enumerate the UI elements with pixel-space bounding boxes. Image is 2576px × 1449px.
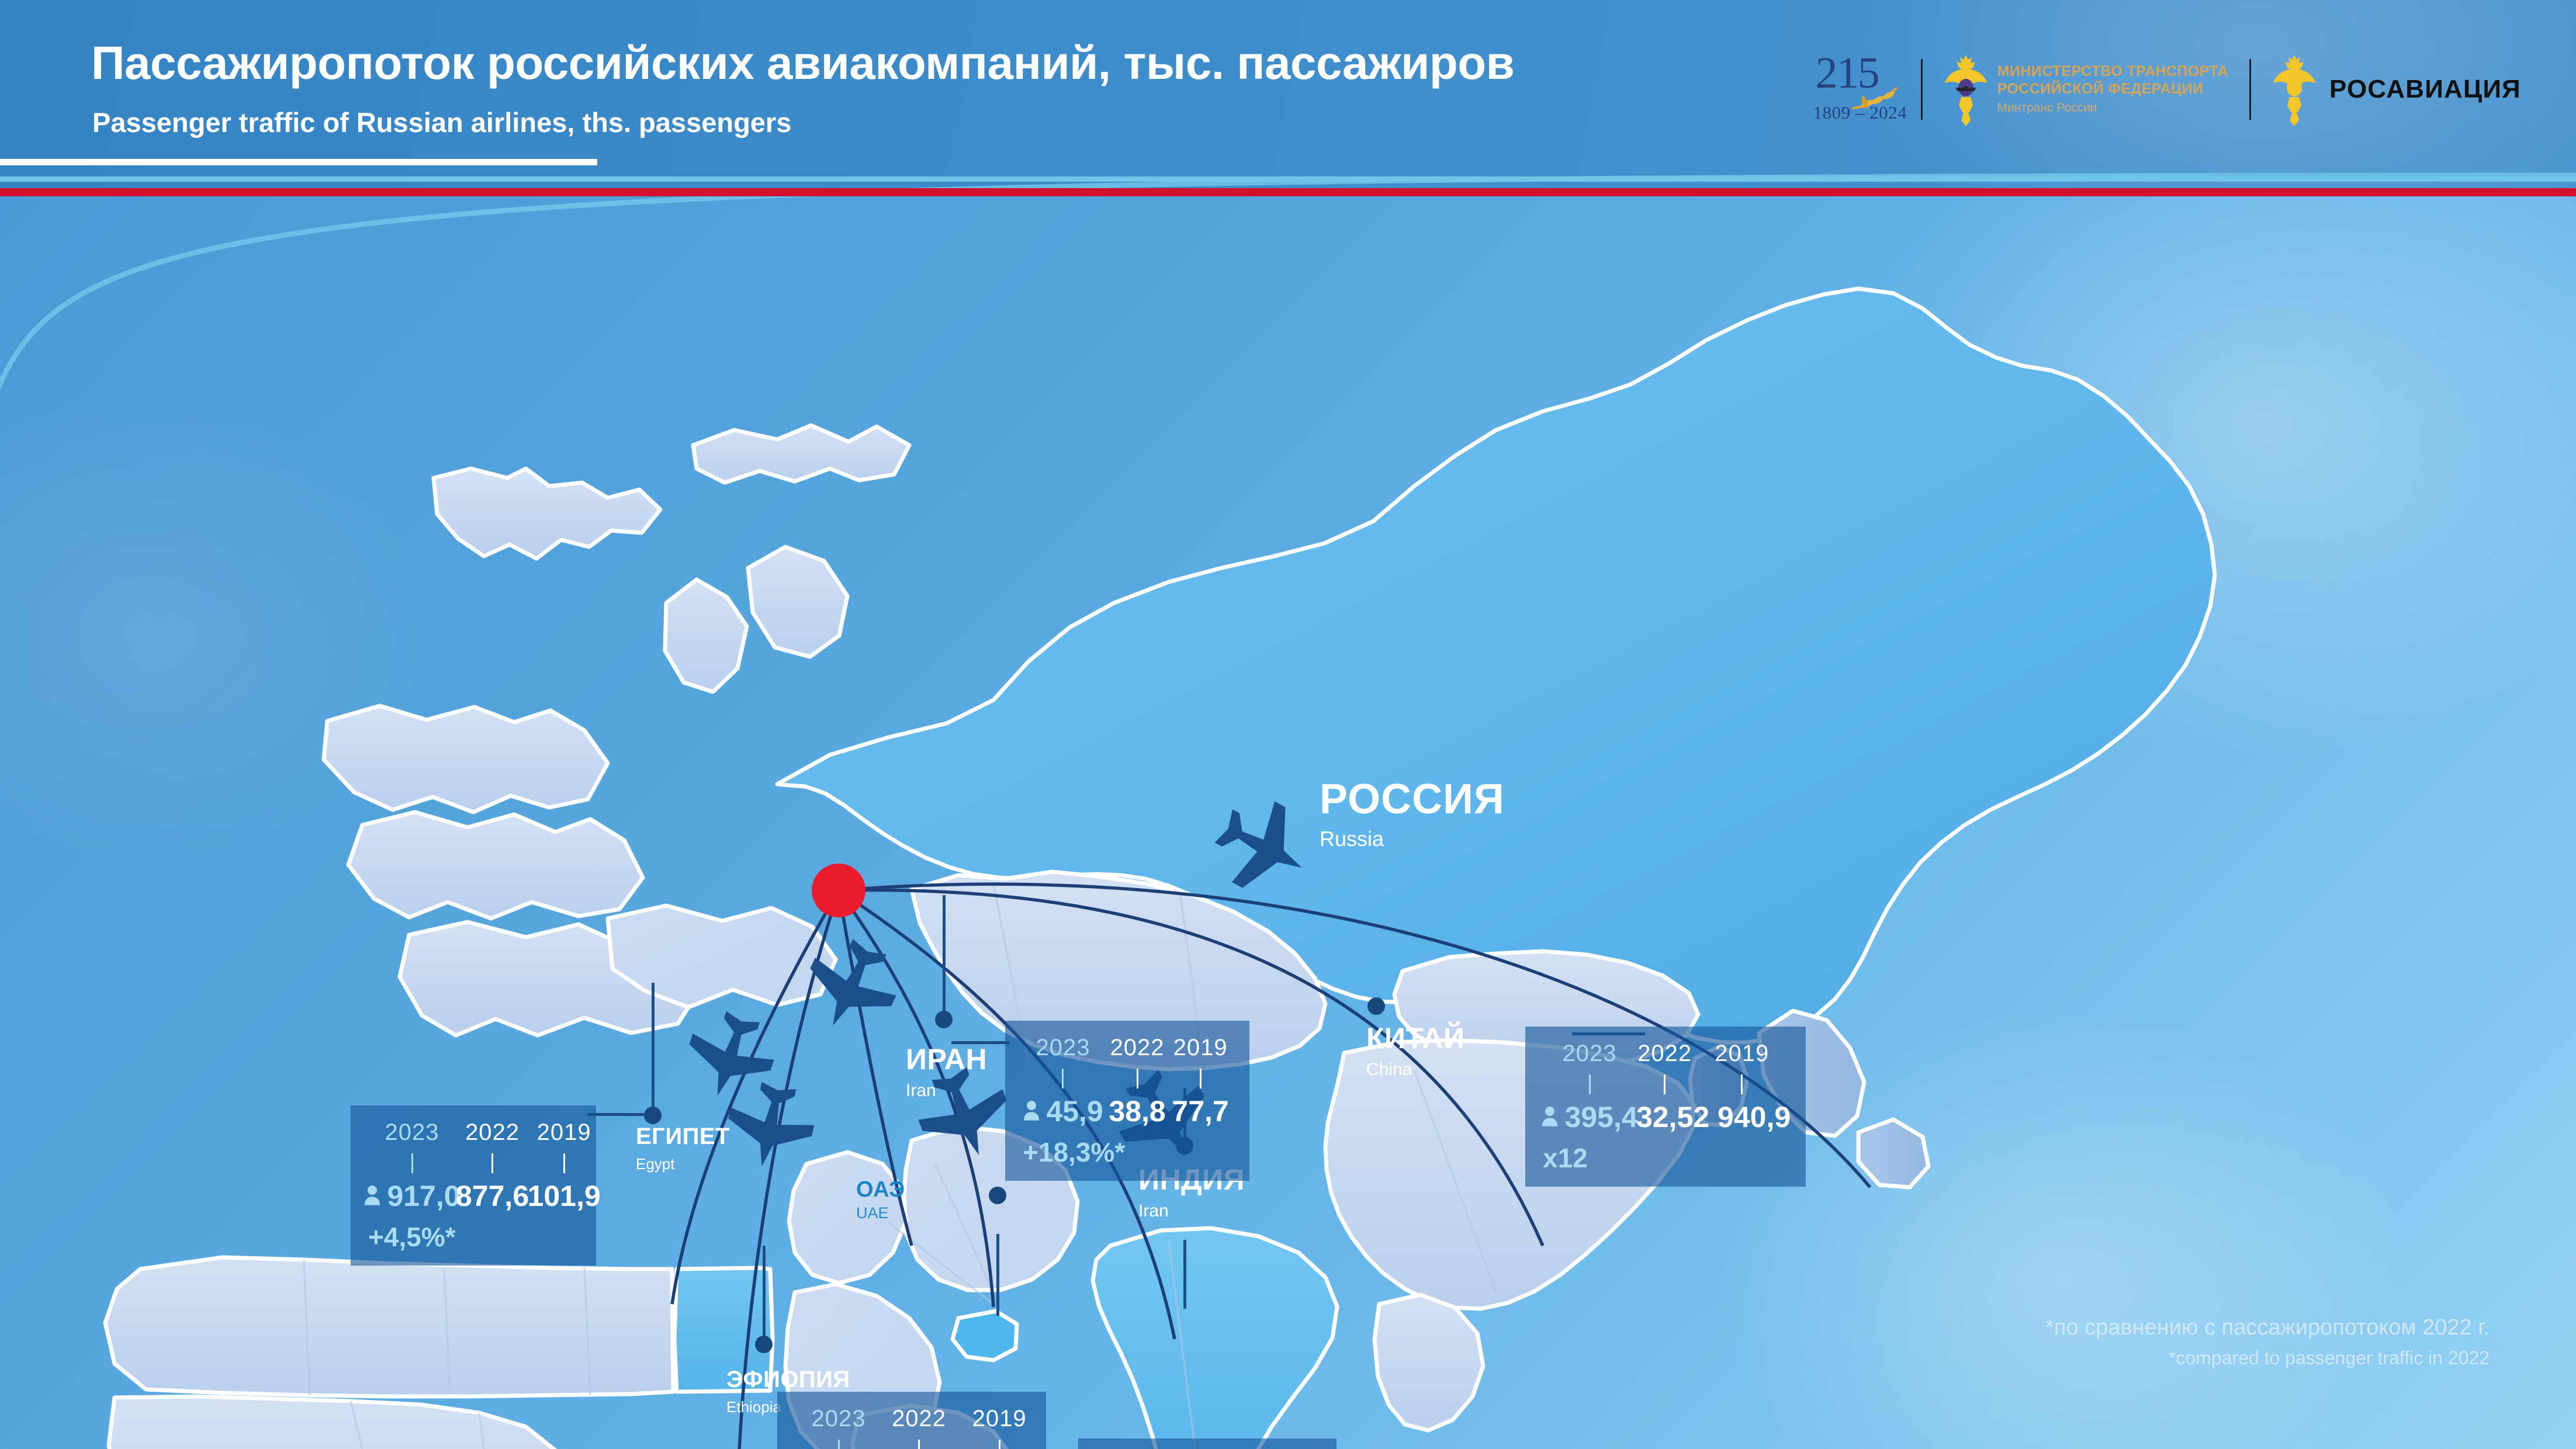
year-label-2019: 2019 [972,1407,1027,1430]
anniversary-years: 1809 – 2024 [1813,102,1907,123]
country-label-russia: РОССИЯ Russia [1320,778,1505,850]
logo-group: 215 1809 – 2024 МИНИСТЕРСТ [1812,46,2521,133]
year-label-2023: 2023 [812,1407,866,1430]
country-name-en: Russia [1320,829,1505,850]
year-label-2023: 2023 [1563,1042,1617,1065]
ministry-line-1: МИНИСТЕРСТВО ТРАНСПОРТА [1997,63,2228,81]
leader-dot-uae [989,1187,1006,1204]
country-name-ru: РОССИЯ [1320,778,1505,820]
data-card-iran[interactable]: 2023 45,9 2022 38,8 2019 77,7 [1005,1021,1249,1181]
header-bar: Пассажиропоток российских авиакомпаний, … [0,0,2576,194]
ministry-of-transport-logo: МИНИСТЕРСТВО ТРАНСПОРТА РОССИЙСКОЙ ФЕДЕР… [1944,51,2228,127]
tick-mark [1137,1069,1138,1089]
year-label-2022: 2022 [1637,1042,1692,1065]
leader-stem-india-2 [1183,1240,1186,1309]
page-title-ru: Пассажиропоток российских авиакомпаний, … [91,36,1514,90]
page-title-en: Passenger traffic of Russian airlines, t… [92,106,791,138]
tick-mark [999,1440,1000,1449]
value-2019: 77,7 [1172,1097,1228,1126]
ministry-text-block: МИНИСТЕРСТВО ТРАНСПОРТА РОССИЙСКОЙ ФЕДЕР… [1997,63,2228,116]
value-2022: 32,5 [1636,1103,1693,1132]
country-name-ru: ОАЭ [856,1178,905,1201]
value-2023: 45,9 [1046,1097,1103,1126]
value-2023: 917,0 [387,1181,460,1211]
footnote-en: *compared to passenger traffic in 2022 [2045,1346,2490,1370]
tick-mark [1200,1069,1202,1089]
ministry-line-2: РОССИЙСКОЙ ФЕДЕРАЦИИ [1997,81,2228,98]
map-canvas: РОССИЯ Russia КИТАЙ China ИНДИЯ Iran ИРА… [0,194,2576,1449]
tick-mark [1664,1074,1666,1094]
tick-mark [1741,1074,1743,1094]
data-card-china[interactable]: 2023 395,4 2022 32,5 2019 2 940,9 [1525,1027,1806,1187]
rosaviatsia-name: РОСАВИАЦИЯ [2329,75,2521,104]
data-card-egypt[interactable]: 2023 917,0 2022 877,6 2019 101,9 [351,1105,596,1266]
tick-mark [838,1440,840,1449]
country-label-iran: ИРАН Iran [906,1045,987,1100]
leader-stem-uae [996,1234,999,1316]
leader-stem-ethiopia [763,1246,766,1339]
value-2019: 2 940,9 [1693,1103,1791,1132]
logo-divider [1921,59,1923,120]
year-label-2022: 2022 [465,1121,520,1144]
country-name-en: Iran [906,1082,987,1100]
country-name-en: Iran [1138,1202,1245,1220]
tick-mark [411,1153,413,1173]
country-name-en: China [1366,1061,1464,1079]
country-name-ru: ЭФИОПИЯ [726,1368,850,1391]
country-name-ru: ЕГИПЕТ [636,1125,730,1148]
delta-badge: +4,5%* [368,1223,576,1250]
ministry-line-3: Минтранс России [1997,101,2228,116]
country-name-ru: КИТАЙ [1366,1024,1464,1053]
leader-dot-ethiopia [755,1336,773,1353]
country-name-en: Egypt [636,1156,730,1171]
tick-mark [1589,1074,1591,1094]
country-label-uae: ОАЭ UAE [856,1178,905,1221]
data-card-uae[interactable]: 2023 775,7 2022 402,6 2019 1164,4 [777,1392,1046,1449]
leader-dot-iran [935,1011,953,1028]
delta-badge: x12 [1543,1145,1786,1171]
footnote-ru: *по сравнению с пассажиропотоком 2022 г. [2045,1314,2490,1342]
passenger-icon [1023,1100,1040,1123]
logo-divider [2249,59,2251,120]
value-2019: 101,9 [528,1181,601,1211]
leader-stem-iran [943,895,946,1017]
data-card-india[interactable]: 2023 256,7 2022 51,6 2019 644,9 [1078,1438,1337,1449]
country-label-egypt: ЕГИПЕТ Egypt [636,1125,730,1171]
leader-stem-egypt [652,983,655,1111]
year-label-2022: 2022 [1110,1036,1165,1059]
leader-line-iran [951,1041,1010,1044]
value-2022: 877,6 [456,1181,529,1211]
year-label-2023: 2023 [385,1121,439,1144]
year-label-2019: 2019 [1173,1036,1228,1059]
anniversary-215-logo: 215 1809 – 2024 [1812,48,1900,130]
leader-dot-egypt [644,1107,662,1124]
title-underline [0,159,597,165]
tick-mark [563,1153,565,1173]
double-headed-eagle-icon [1944,51,1988,127]
passenger-icon [363,1184,381,1208]
rosaviatsia-logo: РОСАВИАЦИЯ [2272,51,2521,127]
delta-badge: +18,3%* [1023,1139,1230,1166]
tick-mark [1062,1069,1064,1089]
leader-line-egypt [587,1113,646,1116]
tick-mark [491,1153,493,1173]
value-2022: 38,8 [1109,1097,1165,1126]
country-name-en: UAE [856,1205,905,1221]
passenger-icon [1541,1105,1559,1129]
year-label-2022: 2022 [892,1407,946,1430]
tick-mark [918,1440,920,1449]
value-2023: 395,4 [1564,1103,1637,1132]
double-headed-eagle-icon [2272,51,2317,127]
year-label-2019: 2019 [1715,1042,1769,1065]
year-label-2019: 2019 [537,1121,591,1144]
year-label-2023: 2023 [1036,1036,1090,1059]
country-name-ru: ИРАН [906,1045,987,1074]
moscow-hub-marker [812,864,865,917]
country-label-china: КИТАЙ China [1366,1024,1464,1079]
footnote: *по сравнению с пассажиропотоком 2022 г.… [2045,1314,2490,1370]
leader-dot-china [1367,997,1385,1015]
